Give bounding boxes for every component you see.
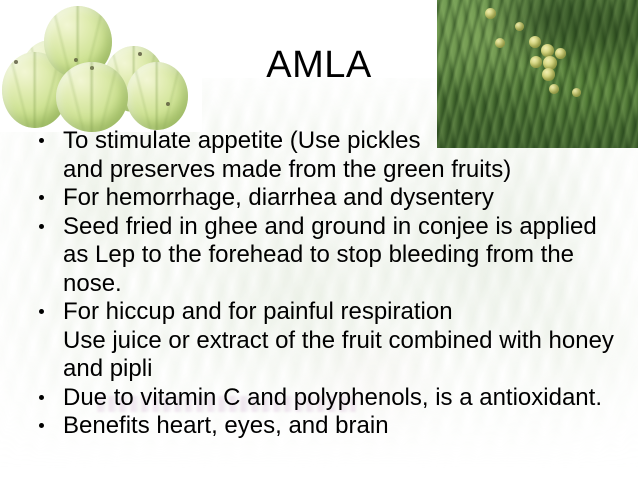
list-item-text: To stimulate appetite (Use pickles and p… [63, 127, 628, 184]
list-item: For hiccup and for painful respiration U… [28, 298, 628, 384]
list-item-text: Benefits heart, eyes, and brain [63, 412, 628, 441]
bullet-dot-icon [39, 309, 44, 314]
list-item: To stimulate appetite (Use pickles and p… [28, 127, 628, 184]
page-title: AMLA [0, 43, 638, 87]
bullet-dot-icon [39, 395, 44, 400]
list-item: Benefits heart, eyes, and brain [28, 412, 628, 441]
bullet-list: To stimulate appetite (Use pickles and p… [28, 127, 628, 441]
bullet-dot-icon [39, 224, 44, 229]
bullet-dot-icon [39, 138, 44, 143]
slide-canvas: AMLA To stimulate appetite (Use pickles … [0, 0, 638, 479]
list-item: Due to vitamin C and polyphenols, is a a… [28, 384, 628, 413]
list-item-text: For hiccup and for painful respiration U… [63, 298, 628, 384]
list-item: For hemorrhage, diarrhea and dysentery [28, 184, 628, 213]
list-item-text: Due to vitamin C and polyphenols, is a a… [63, 384, 628, 413]
list-item: Seed fried in ghee and ground in conjee … [28, 213, 628, 299]
bullet-dot-icon [39, 423, 44, 428]
list-item-text: Seed fried in ghee and ground in conjee … [63, 213, 628, 299]
list-item-text: For hemorrhage, diarrhea and dysentery [63, 184, 628, 213]
bullet-dot-icon [39, 195, 44, 200]
